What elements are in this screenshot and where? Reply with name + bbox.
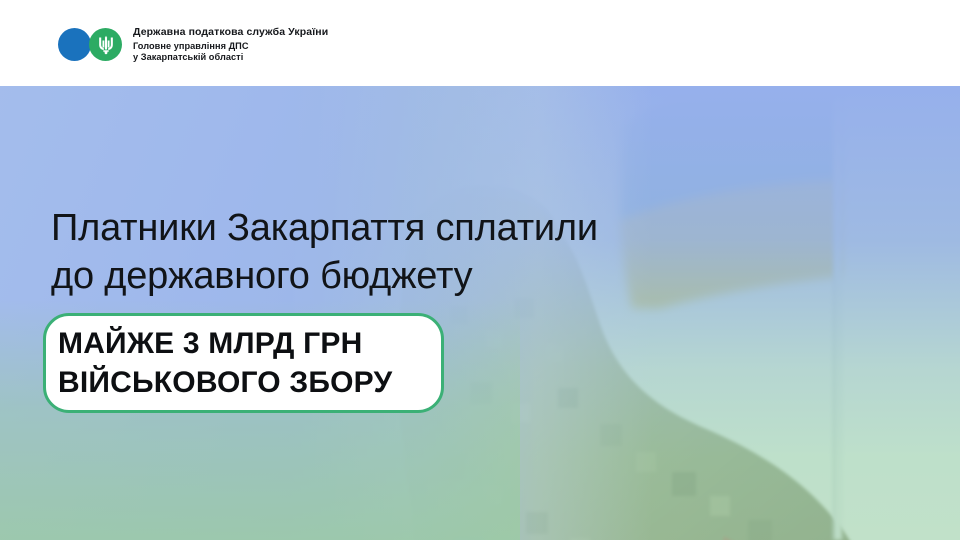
headline-text: Платники Закарпаття сплатили до державно…: [51, 204, 691, 300]
org-name-secondary: Головне управління ДПС: [133, 41, 328, 52]
callout-box: МАЙЖЕ 3 МЛРД ГРН ВІЙСЬКОВОГО ЗБОРУ: [43, 313, 444, 413]
blue-circle-icon: [58, 28, 91, 61]
green-circle-icon: [89, 28, 122, 61]
callout-line-2: ВІЙСЬКОВОГО ЗБОРУ: [58, 363, 441, 402]
logo-marks: [58, 28, 122, 61]
logo-lockup: Державна податкова служба України Головн…: [58, 26, 328, 64]
ukraine-trident-icon: [98, 35, 113, 54]
org-name-primary: Державна податкова служба України: [133, 26, 328, 39]
org-name-region: у Закарпатській області: [133, 52, 328, 63]
artwork-stage: Платники Закарпаття сплатили до державно…: [0, 86, 960, 540]
logo-text-block: Державна податкова служба України Головн…: [133, 26, 328, 64]
callout-line-1: МАЙЖЕ 3 МЛРД ГРН: [58, 324, 441, 363]
header-bar: Державна податкова служба України Головн…: [0, 0, 960, 86]
poster-canvas: Державна податкова служба України Головн…: [0, 0, 960, 540]
